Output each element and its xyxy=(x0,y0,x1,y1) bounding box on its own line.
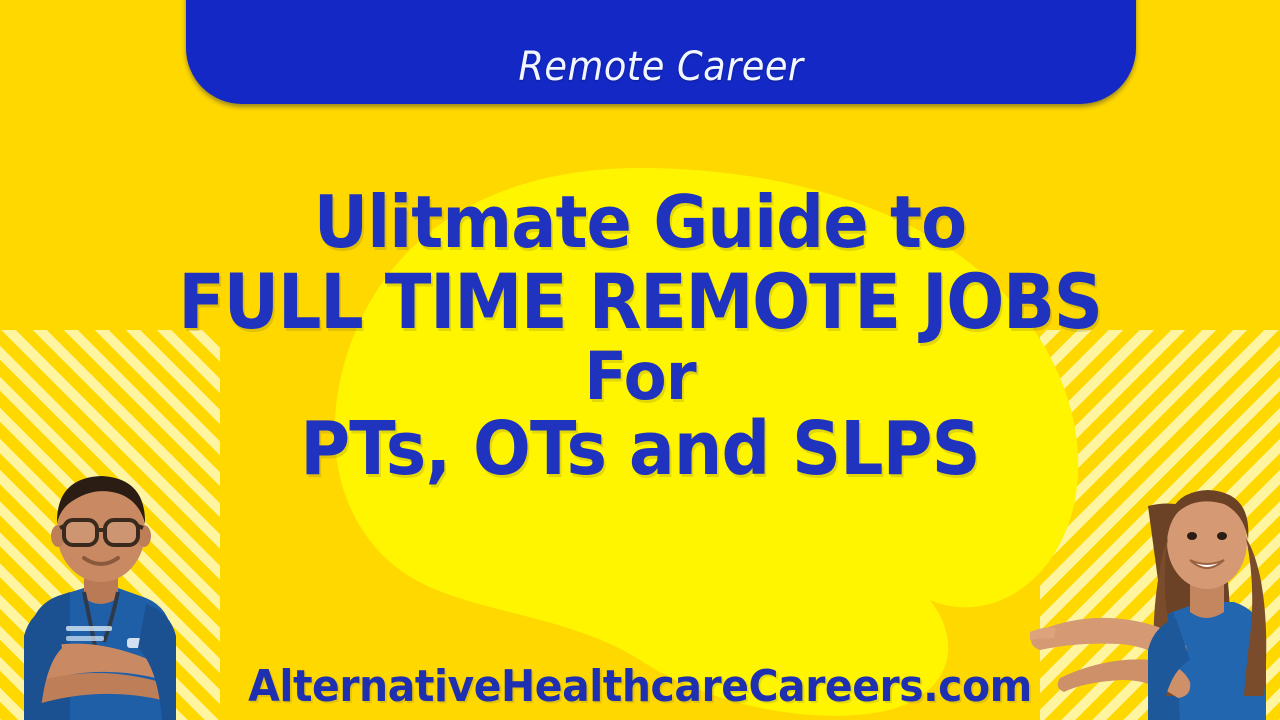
headline-block: Ulitmate Guide to FULL TIME REMOTE JOBS … xyxy=(0,186,1280,486)
banner-title: Remote Career xyxy=(518,44,803,90)
headline-line-2: FULL TIME REMOTE JOBS xyxy=(64,264,1216,340)
top-banner: Remote Career xyxy=(186,0,1136,104)
video-thumbnail: Remote Career Ulitmate Guide to FULL TIM… xyxy=(0,0,1280,720)
headline-line-1: Ulitmate Guide to xyxy=(45,186,1235,258)
headline-line-3: For xyxy=(32,344,1248,410)
headline-line-4: PTs, OTs and SLPS xyxy=(51,412,1229,486)
website-url: AlternativeHealthcareCareers.com xyxy=(45,661,1235,712)
